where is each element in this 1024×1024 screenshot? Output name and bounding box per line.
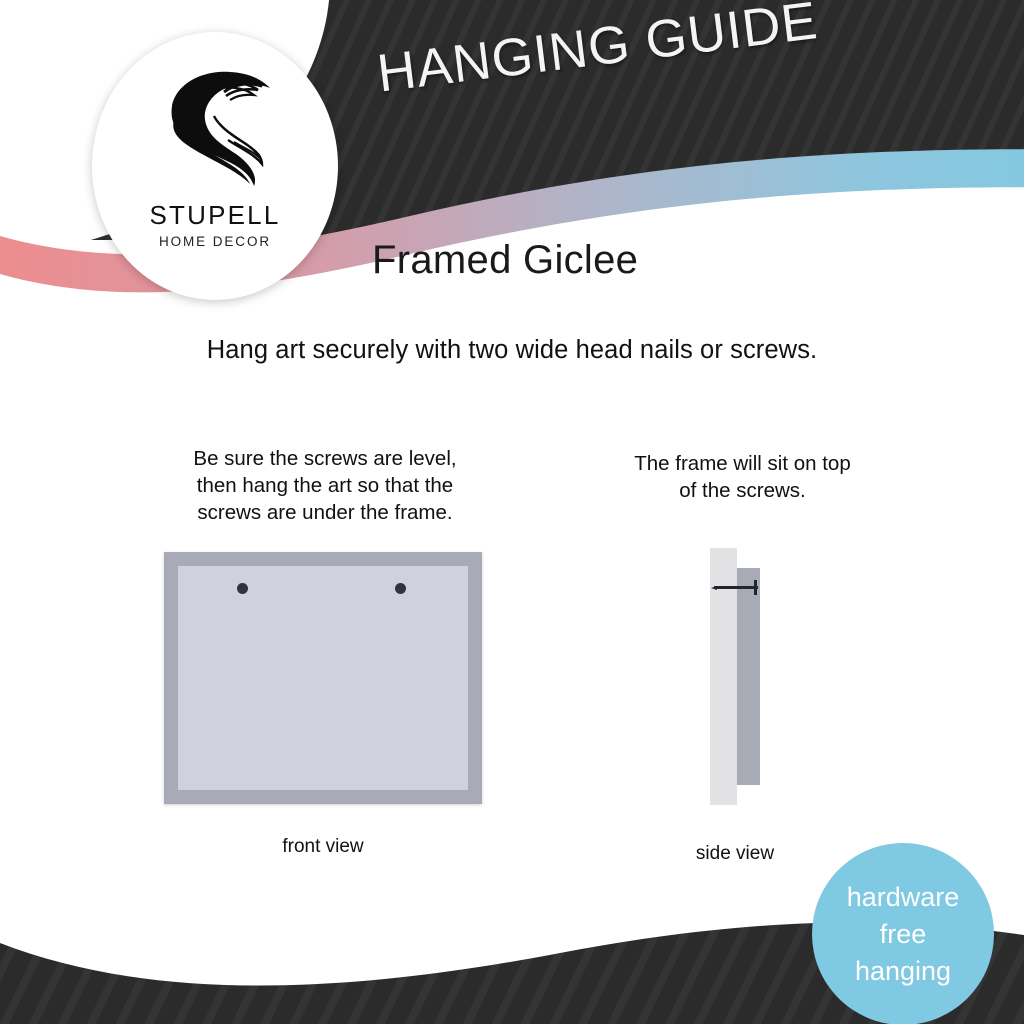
screw-dot-right	[395, 583, 406, 594]
screw-dot-left	[237, 583, 248, 594]
brand-logo-badge: STUPELL HOME DECOR	[92, 32, 338, 300]
badge-line1: hardware	[847, 879, 960, 916]
front-view-frame	[164, 552, 482, 804]
badge-line2: free	[880, 916, 927, 953]
side-view-caption-line1: The frame will sit on top	[590, 450, 895, 477]
front-view-caption-line2: then hang the art so that the	[160, 472, 490, 499]
nail-head-icon	[754, 580, 757, 595]
side-view-label: side view	[640, 843, 830, 865]
side-view-caption-line2: of the screws.	[590, 477, 895, 504]
product-type-subtitle: Framed Giclee	[372, 238, 638, 283]
nail-shaft-icon	[714, 586, 758, 589]
front-view-label: front view	[164, 836, 482, 858]
side-view-caption: The frame will sit on top of the screws.	[590, 450, 895, 504]
badge-line3: hanging	[855, 953, 951, 990]
front-view-caption-line3: screws are under the frame.	[160, 499, 490, 526]
brand-tagline: HOME DECOR	[159, 234, 271, 249]
hardware-free-hanging-badge: hardware free hanging	[812, 843, 994, 1024]
front-view-caption-line1: Be sure the screws are level,	[160, 445, 490, 472]
front-view-mat	[178, 566, 468, 790]
side-view-frame	[737, 568, 760, 785]
brand-name: STUPELL	[149, 200, 280, 231]
lead-instruction: Hang art securely with two wide head nai…	[0, 336, 1024, 365]
stupell-swoosh-logo-icon	[150, 62, 280, 194]
hanging-guide-infographic: STUPELL HOME DECOR HANGING GUIDE Framed …	[0, 0, 1024, 1024]
front-view-caption: Be sure the screws are level, then hang …	[160, 445, 490, 526]
